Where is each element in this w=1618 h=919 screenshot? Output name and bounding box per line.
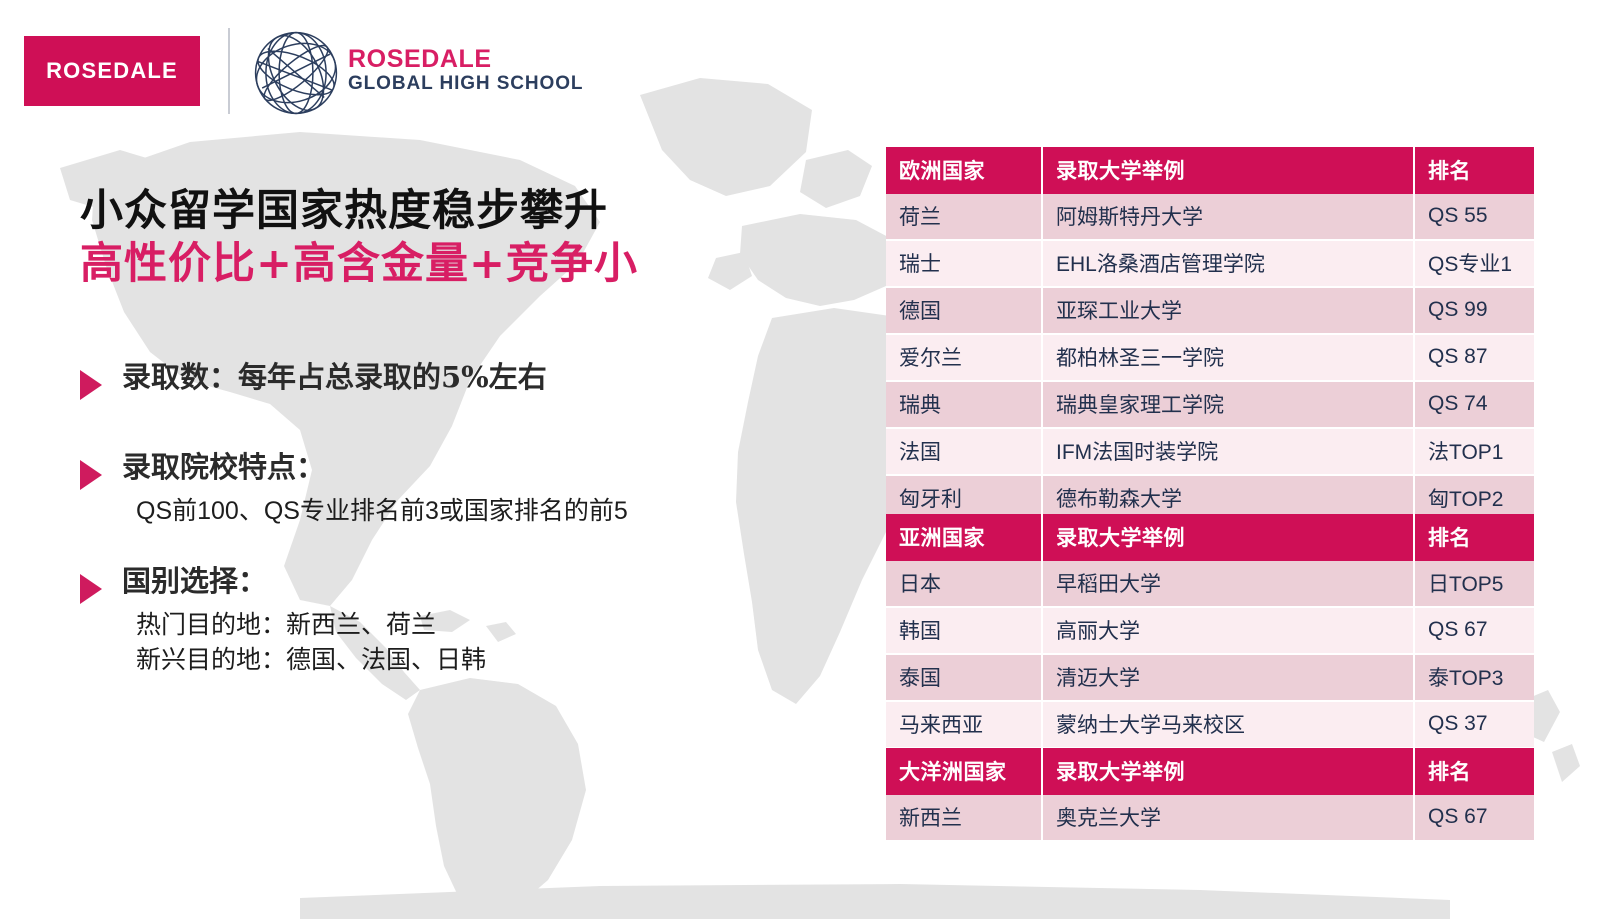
cell-rank: QS 67 (1414, 607, 1534, 654)
table-row: 爱尔兰都柏林圣三一学院QS 87 (886, 334, 1534, 381)
col-header-university: 录取大学举例 (1042, 748, 1414, 795)
table-row: 瑞典瑞典皇家理工学院QS 74 (886, 381, 1534, 428)
table-header-row: 欧洲国家 录取大学举例 排名 (886, 147, 1534, 194)
col-header-rank: 排名 (1414, 147, 1534, 194)
cell-country: 法国 (886, 428, 1042, 475)
brand-lockup: ROSEDALE GLOBAL HIGH SCHOOL (348, 46, 583, 94)
cell-university: 都柏林圣三一学院 (1042, 334, 1414, 381)
cell-rank: QS 55 (1414, 194, 1534, 240)
triangle-bullet-icon (80, 574, 102, 604)
cell-university: IFM法国时装学院 (1042, 428, 1414, 475)
cell-rank: QS专业1 (1414, 240, 1534, 287)
bullet-sub-emerging-destinations: 新兴目的地：德国、法国、日韩 (136, 643, 860, 679)
cell-university: 奥克兰大学 (1042, 795, 1414, 840)
bullet-title-school-traits: 录取院校特点： (122, 448, 325, 487)
rosedale-wordmark: ROSEDALE (46, 58, 178, 84)
table-row: 日本早稻田大学日TOP5 (886, 561, 1534, 607)
cell-country: 日本 (886, 561, 1042, 607)
bullet-title-admissions: 录取数：每年占总录取的5%左右 (122, 358, 547, 397)
bullet-item-school-traits: 录取院校特点： QS前100、QS专业排名前3或国家排名的前5 (80, 448, 860, 530)
bullet-title-country-choice: 国别选择： (122, 562, 267, 601)
col-header-rank: 排名 (1414, 514, 1534, 561)
cell-country: 荷兰 (886, 194, 1042, 240)
cell-country: 泰国 (886, 654, 1042, 701)
cell-rank: QS 74 (1414, 381, 1534, 428)
cell-university: 阿姆斯特丹大学 (1042, 194, 1414, 240)
table-oceania: 大洋洲国家 录取大学举例 排名 新西兰奥克兰大学QS 67 (886, 748, 1534, 840)
triangle-bullet-icon (80, 370, 102, 400)
cell-university: 清迈大学 (1042, 654, 1414, 701)
cell-rank: 法TOP1 (1414, 428, 1534, 475)
headline-line-1: 小众留学国家热度稳步攀升 (80, 186, 840, 237)
col-header-country: 欧洲国家 (886, 147, 1042, 194)
table-row: 马来西亚蒙纳士大学马来校区QS 37 (886, 701, 1534, 747)
spacer-2 (80, 536, 860, 562)
brand-tagline: GLOBAL HIGH SCHOOL (348, 74, 583, 94)
globe-icon (248, 26, 344, 120)
tables-column: 欧洲国家 录取大学举例 排名 荷兰阿姆斯特丹大学QS 55 瑞士EHL洛桑酒店管… (886, 0, 1546, 919)
col-header-country: 亚洲国家 (886, 514, 1042, 561)
cell-rank: 日TOP5 (1414, 561, 1534, 607)
bullet-sub-popular-destinations: 热门目的地：新西兰、荷兰 (136, 608, 860, 644)
header-divider (228, 28, 230, 114)
cell-university: 高丽大学 (1042, 607, 1414, 654)
cell-rank: QS 37 (1414, 701, 1534, 747)
cell-country: 瑞士 (886, 240, 1042, 287)
bullet-list: 录取数：每年占总录取的5%左右 录取院校特点： QS前100、QS专业排名前3或… (80, 358, 860, 685)
slide-root: ROSEDALE ROSEDALE GLO (0, 0, 1618, 919)
spacer-1 (80, 406, 860, 448)
col-header-university: 录取大学举例 (1042, 147, 1414, 194)
table-row: 瑞士EHL洛桑酒店管理学院QS专业1 (886, 240, 1534, 287)
headline-line-2: 高性价比+高含金量+竞争小 (80, 239, 840, 290)
table-header-row: 亚洲国家 录取大学举例 排名 (886, 514, 1534, 561)
cell-rank: QS 67 (1414, 795, 1534, 840)
cell-university: EHL洛桑酒店管理学院 (1042, 240, 1414, 287)
table-header-row: 大洋洲国家 录取大学举例 排名 (886, 748, 1534, 795)
cell-university: 瑞典皇家理工学院 (1042, 381, 1414, 428)
rosedale-logo-box: ROSEDALE (24, 36, 200, 106)
headline-block: 小众留学国家热度稳步攀升 高性价比+高含金量+竞争小 (80, 186, 840, 289)
table-row: 韩国高丽大学QS 67 (886, 607, 1534, 654)
cell-rank: QS 87 (1414, 334, 1534, 381)
bullet-item-country-choice: 国别选择： 热门目的地：新西兰、荷兰 新兴目的地：德国、法国、日韩 (80, 562, 860, 679)
table-row: 荷兰阿姆斯特丹大学QS 55 (886, 194, 1534, 240)
cell-country: 德国 (886, 287, 1042, 334)
table-europe: 欧洲国家 录取大学举例 排名 荷兰阿姆斯特丹大学QS 55 瑞士EHL洛桑酒店管… (886, 147, 1534, 521)
bullet-sub-school-traits: QS前100、QS专业排名前3或国家排名的前5 (136, 494, 860, 530)
brand-header: ROSEDALE ROSEDALE GLO (0, 0, 700, 145)
bullet-item-admissions: 录取数：每年占总录取的5%左右 (80, 358, 860, 400)
col-header-rank: 排名 (1414, 748, 1534, 795)
table-asia: 亚洲国家 录取大学举例 排名 日本早稻田大学日TOP5 韩国高丽大学QS 67 … (886, 514, 1534, 747)
table-row: 泰国清迈大学泰TOP3 (886, 654, 1534, 701)
brand-name: ROSEDALE (348, 46, 583, 72)
cell-rank: QS 99 (1414, 287, 1534, 334)
cell-rank: 泰TOP3 (1414, 654, 1534, 701)
cell-university: 蒙纳士大学马来校区 (1042, 701, 1414, 747)
cell-country: 新西兰 (886, 795, 1042, 840)
table-row: 德国亚琛工业大学QS 99 (886, 287, 1534, 334)
cell-country: 韩国 (886, 607, 1042, 654)
table-row: 法国IFM法国时装学院法TOP1 (886, 428, 1534, 475)
cell-university: 亚琛工业大学 (1042, 287, 1414, 334)
table-row: 新西兰奥克兰大学QS 67 (886, 795, 1534, 840)
cell-country: 爱尔兰 (886, 334, 1042, 381)
col-header-country: 大洋洲国家 (886, 748, 1042, 795)
cell-university: 早稻田大学 (1042, 561, 1414, 607)
cell-country: 马来西亚 (886, 701, 1042, 747)
triangle-bullet-icon (80, 460, 102, 490)
cell-country: 瑞典 (886, 381, 1042, 428)
col-header-university: 录取大学举例 (1042, 514, 1414, 561)
